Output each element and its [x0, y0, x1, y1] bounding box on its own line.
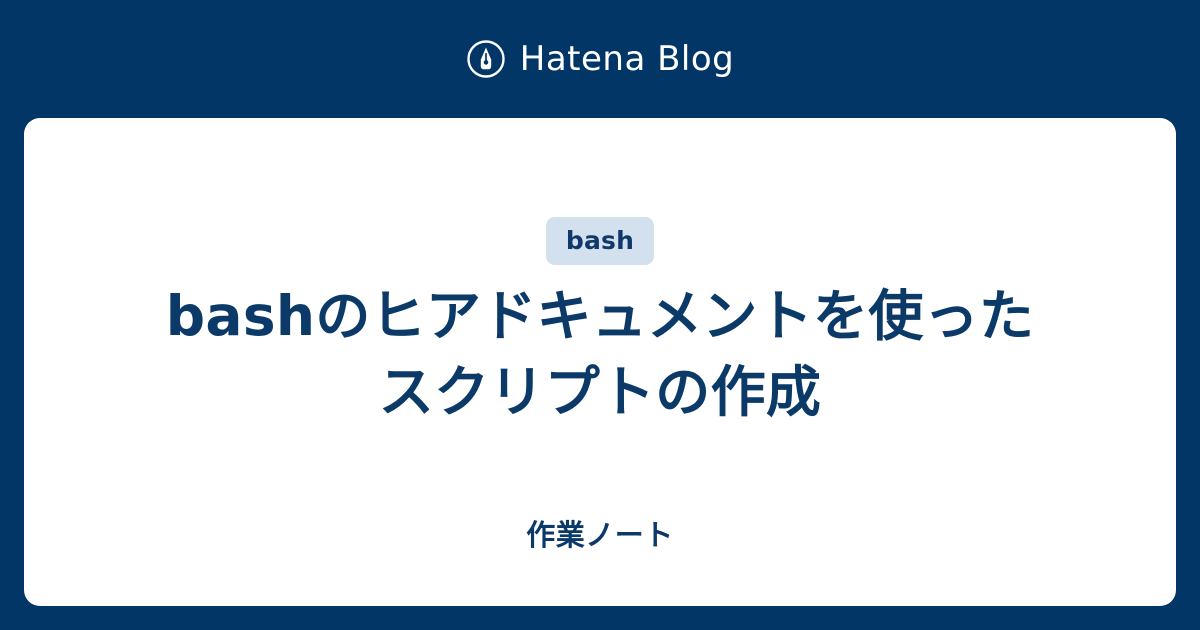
pen-nib-in-circle-icon — [466, 39, 506, 79]
blog-name-row: 作業ノート — [24, 521, 1176, 550]
category-tag-row: bash — [24, 217, 1176, 265]
blog-name[interactable]: 作業ノート — [526, 521, 674, 550]
category-tag-bash[interactable]: bash — [546, 217, 654, 265]
brand-header: Hatena Blog — [0, 0, 1200, 118]
entry-title-line-1: bashのヒアドキュメントを使った — [64, 278, 1136, 354]
entry-title-line-2: スクリプトの作成 — [64, 354, 1136, 430]
entry-card: bash bashのヒアドキュメントを使った スクリプトの作成 作業ノート — [24, 118, 1176, 606]
entry-title: bashのヒアドキュメントを使った スクリプトの作成 — [24, 278, 1176, 430]
brand-name: Hatena Blog — [520, 42, 735, 76]
ogp-card-root: Hatena Blog bash bashのヒアドキュメントを使った スクリプト… — [0, 0, 1200, 630]
